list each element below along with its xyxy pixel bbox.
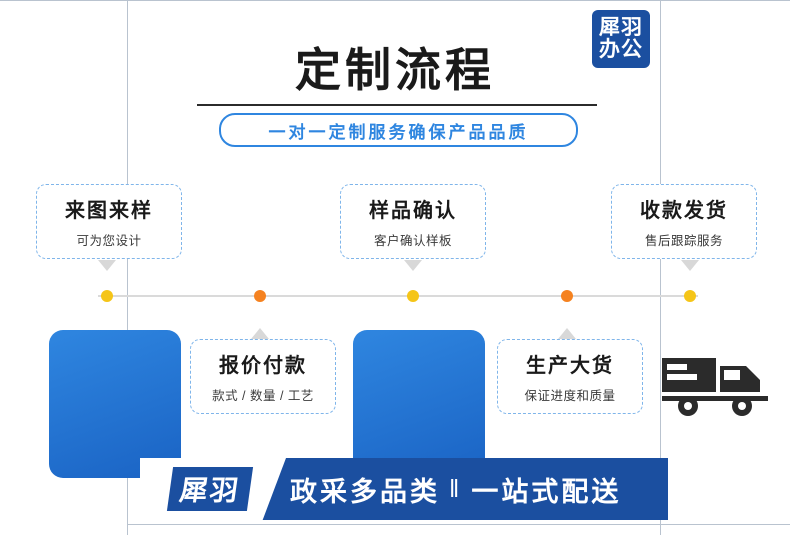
- timeline-dot-1: [101, 290, 113, 302]
- timeline-dot-4: [561, 290, 573, 302]
- banner-logo-text: 犀羽: [167, 467, 253, 511]
- step-card-shoukuan-fahuo: 收款发货 售后跟踪服务: [611, 184, 757, 259]
- timeline-dot-3: [407, 290, 419, 302]
- step-subtitle: 款式 / 数量 / 工艺: [212, 385, 314, 404]
- pointer-down-3: [681, 260, 699, 271]
- step-subtitle: 保证进度和质量: [524, 385, 615, 404]
- step-title: 样品确认: [369, 194, 457, 223]
- timeline-dot-2: [254, 290, 266, 302]
- mascot-background-left: [49, 330, 181, 478]
- banner-logo-panel: 犀羽: [140, 458, 286, 520]
- timeline-dot-5: [684, 290, 696, 302]
- frame-line-bottom: [127, 524, 790, 525]
- frame-line-top: [0, 0, 790, 1]
- step-card-shengchan-dahuo: 生产大货 保证进度和质量: [497, 339, 643, 414]
- mascot-background-right: [353, 330, 485, 478]
- step-title: 来图来样: [65, 194, 153, 223]
- page-subtitle: 一对一定制服务确保产品品质: [269, 118, 529, 143]
- banner-slogan: 政采多品类 ‖ 一站式配送: [290, 458, 621, 520]
- mascot-image-right: [353, 330, 485, 478]
- process-timeline: [98, 295, 698, 297]
- step-title: 生产大货: [526, 349, 614, 378]
- step-title: 报价付款: [219, 349, 307, 378]
- banner-slogan-left: 政采多品类: [290, 470, 440, 509]
- bottom-banner: 犀羽 政采多品类 ‖ 一站式配送: [140, 458, 668, 520]
- pointer-down-1: [98, 260, 116, 271]
- banner-slogan-right: 一站式配送: [471, 470, 621, 509]
- delivery-truck-icon: [662, 350, 768, 418]
- pointer-up-2: [558, 328, 576, 339]
- step-title: 收款发货: [640, 194, 728, 223]
- mascot-image-left: [49, 330, 181, 478]
- subtitle-pill: 一对一定制服务确保产品品质: [219, 113, 578, 147]
- step-card-baojia-fukuan: 报价付款 款式 / 数量 / 工艺: [190, 339, 336, 414]
- title-underline: [197, 104, 597, 106]
- step-card-laitu-laiyang: 来图来样 可为您设计: [36, 184, 182, 259]
- step-subtitle: 可为您设计: [76, 230, 141, 249]
- pointer-up-1: [251, 328, 269, 339]
- step-subtitle: 售后跟踪服务: [645, 230, 723, 249]
- pointer-down-2: [404, 260, 422, 271]
- page-title: 定制流程: [0, 34, 790, 100]
- step-subtitle: 客户确认样板: [374, 230, 452, 249]
- banner-separator: ‖: [449, 475, 462, 504]
- step-card-yangpin-queren: 样品确认 客户确认样板: [340, 184, 486, 259]
- poster-root: 犀羽 办公 定制流程 一对一定制服务确保产品品质 来图来样 可为您设计 样品确认…: [0, 0, 790, 535]
